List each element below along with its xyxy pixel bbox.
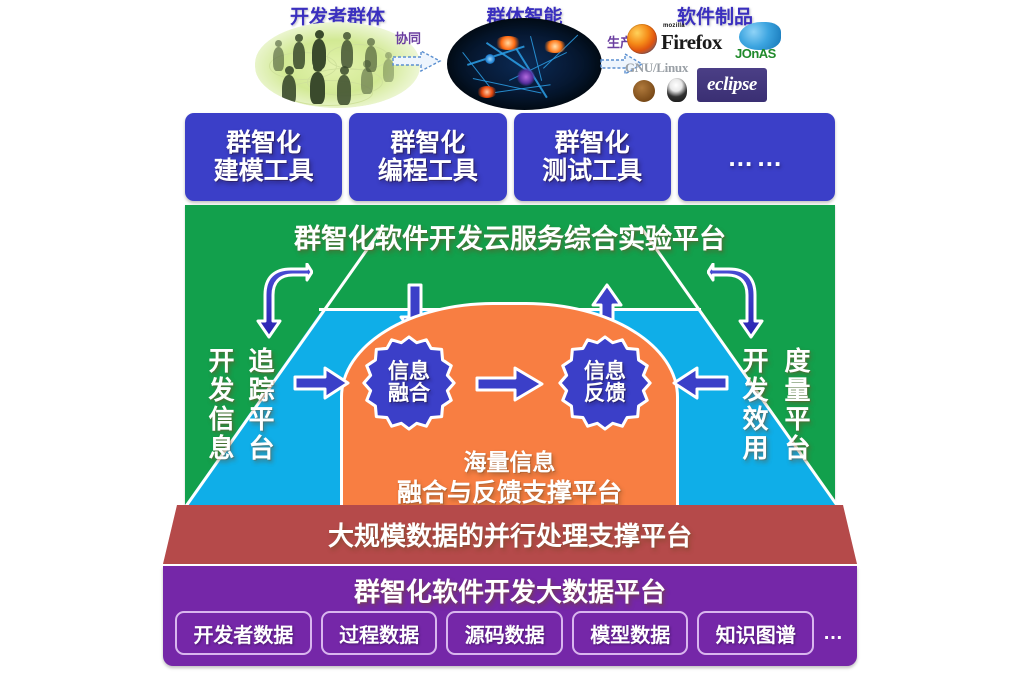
tool-testing-line1: 群智化 [555, 129, 630, 157]
green-band-title: 群智化软件开发云服务综合实验平台 [185, 217, 835, 256]
collaborate-arrow-label: 协同 [395, 28, 421, 47]
gnu-linux-wordmark: GNU/Linux [625, 60, 688, 76]
data-box-developer[interactable]: 开发者数据 [175, 611, 312, 655]
gear-information-feedback[interactable]: 信息 反馈 [557, 335, 653, 431]
firefox-wordmark: Firefox [661, 30, 722, 55]
top-banner: 开发者群体 群体智能 软件制品 [255, 0, 795, 110]
purple-bigdata-panel: 群智化软件开发大数据平台 开发者数据 过程数据 源码数据 模型数据 知识图谱 … [163, 566, 857, 666]
tux-penguin-icon [667, 78, 687, 102]
data-box-process[interactable]: 过程数据 [321, 611, 438, 655]
tool-boxes-row: 群智化 建模工具 群智化 编程工具 群智化 测试工具 …… [185, 113, 835, 201]
left-panel-col1: 开发信息 [207, 347, 233, 463]
gear-left-line2: 融合 [388, 383, 430, 405]
right-curved-arrow-icon [707, 263, 787, 345]
collaborate-arrow-icon [391, 48, 443, 74]
diagram-canvas: 开发者群体 群体智能 软件制品 [0, 0, 1010, 673]
left-inbound-arrow-icon [293, 365, 351, 401]
fusion-to-feedback-arrow-icon [475, 365, 545, 403]
data-boxes-more-dots: … [823, 622, 845, 645]
tool-modeling-line1: 群智化 [226, 129, 301, 157]
gear-right-label: 信息 反馈 [557, 335, 653, 431]
tool-programming-line1: 群智化 [390, 129, 465, 157]
eclipse-logo: eclipse [697, 68, 767, 102]
tool-programming-line2: 编程工具 [378, 157, 478, 185]
gear-information-fusion[interactable]: 信息 融合 [361, 335, 457, 431]
gnu-head-icon [633, 80, 655, 102]
mozilla-wordmark: mozilla [663, 23, 685, 29]
orange-caption-line2: 融合与反馈支撑平台 [343, 473, 676, 509]
purple-panel-title: 群智化软件开发大数据平台 [163, 572, 857, 609]
right-panel-col2: 度量平台 [783, 347, 809, 463]
gear-left-label: 信息 融合 [361, 335, 457, 431]
data-box-model[interactable]: 模型数据 [572, 611, 689, 655]
tool-box-programming[interactable]: 群智化 编程工具 [349, 113, 506, 201]
tool-box-modeling-label: 群智化 建模工具 [214, 129, 314, 185]
orange-caption-line1: 海量信息 [343, 443, 676, 477]
left-panel-col2: 追踪平台 [247, 347, 273, 463]
data-box-sourcecode[interactable]: 源码数据 [446, 611, 563, 655]
gear-left-line1: 信息 [388, 361, 430, 383]
red-band-title: 大规模数据的并行处理支撑平台 [163, 505, 857, 564]
tool-box-more[interactable]: …… [678, 113, 835, 201]
tool-box-testing[interactable]: 群智化 测试工具 [514, 113, 671, 201]
tool-box-programming-label: 群智化 编程工具 [378, 129, 478, 185]
right-inbound-arrow-icon [671, 365, 729, 401]
gear-right-line2: 反馈 [584, 383, 626, 405]
gear-right-line1: 信息 [584, 361, 626, 383]
tool-testing-line2: 测试工具 [542, 157, 642, 185]
tool-box-more-dots: …… [727, 142, 785, 173]
software-products-image: mozilla Firefox JOnAS GNU/Linux eclipse [623, 18, 795, 110]
firefox-icon [627, 24, 657, 54]
tool-box-testing-label: 群智化 测试工具 [542, 129, 642, 185]
jonas-wordmark: JOnAS [735, 46, 776, 61]
data-category-boxes: 开发者数据 过程数据 源码数据 模型数据 知识图谱 … [175, 610, 845, 656]
data-box-knowledge-graph[interactable]: 知识图谱 [697, 611, 814, 655]
tool-modeling-line2: 建模工具 [214, 157, 314, 185]
red-parallel-processing-band: 大规模数据的并行处理支撑平台 [163, 505, 857, 564]
platform-stack: 群智化软件开发云服务综合实验平台 [185, 205, 835, 505]
right-panel-col1: 开发效用 [741, 347, 767, 463]
crowd-intelligence-image [447, 18, 602, 110]
left-curved-arrow-icon [233, 263, 313, 345]
tool-box-modeling[interactable]: 群智化 建模工具 [185, 113, 342, 201]
